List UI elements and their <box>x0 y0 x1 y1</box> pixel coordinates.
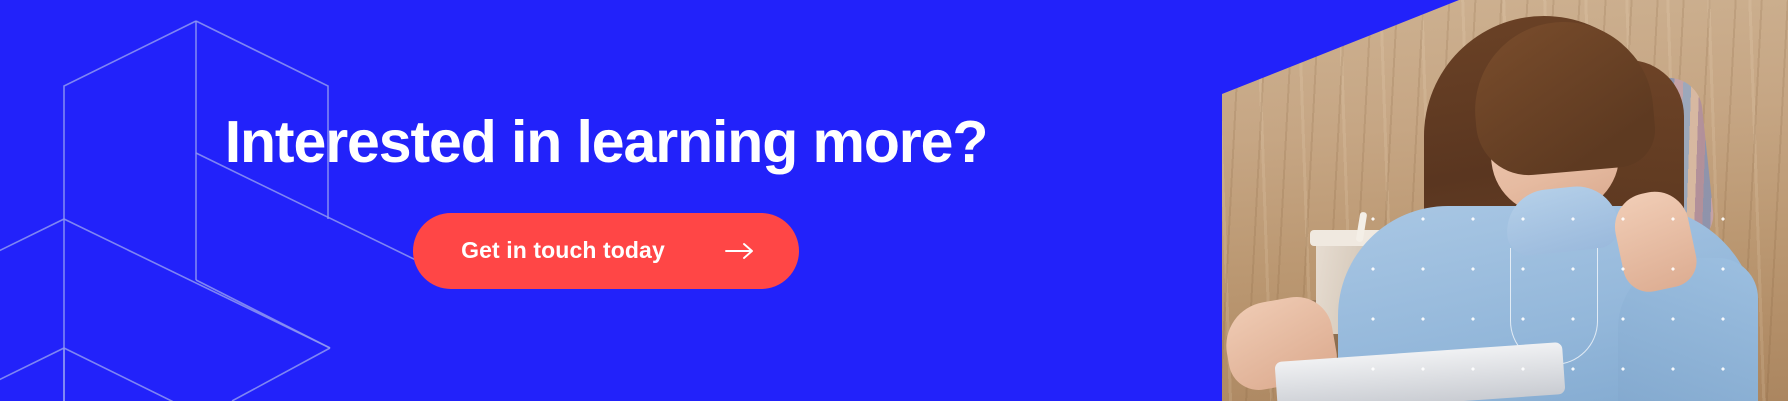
cta-banner: Interested in learning more? Get in touc… <box>0 0 1788 401</box>
hero-photo <box>1188 0 1788 401</box>
get-in-touch-button[interactable]: Get in touch today <box>413 213 799 289</box>
banner-image-region <box>1188 0 1788 401</box>
banner-content: Interested in learning more? Get in touc… <box>0 0 1190 401</box>
cta-container: Get in touch today <box>391 213 799 289</box>
page-title: Interested in learning more? <box>203 113 988 172</box>
cta-button-label: Get in touch today <box>461 237 665 264</box>
arrow-right-icon <box>725 242 755 260</box>
